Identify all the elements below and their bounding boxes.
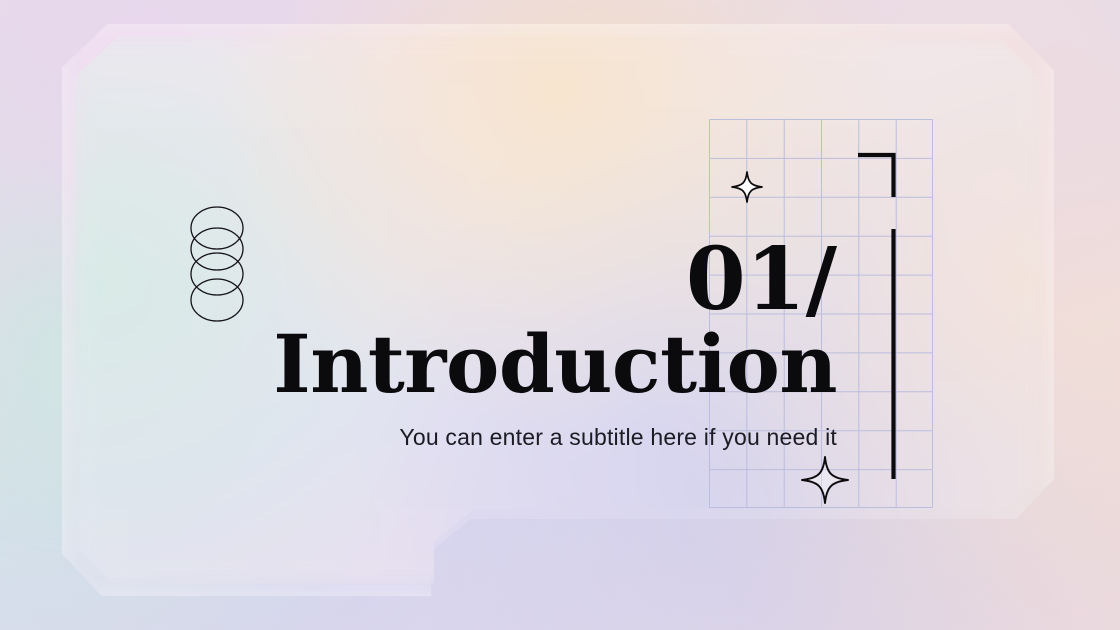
sparkle-star-large-icon [800,455,850,505]
sparkle-star-small-icon [730,170,764,204]
presentation-slide: 01/ Introduction You can enter a subtitl… [0,0,1120,630]
overlapping-circles-icon [186,206,248,324]
corner-bracket-lines-icon [850,148,906,488]
